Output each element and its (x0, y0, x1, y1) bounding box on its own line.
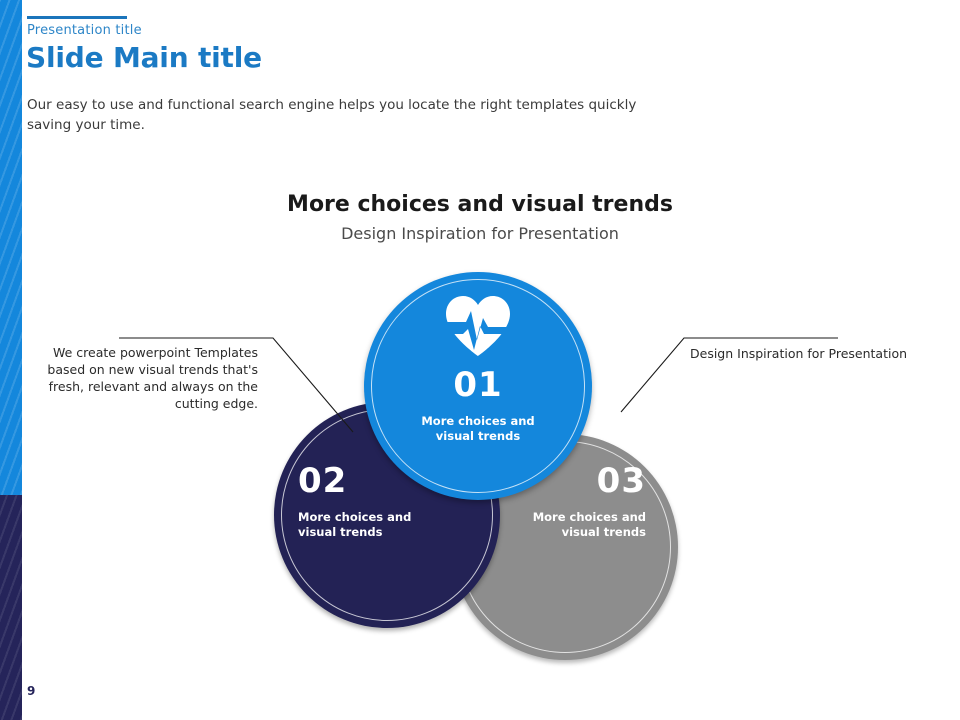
circle-body-02: More choices andvisual trends (274, 510, 500, 540)
page-number: 9 (27, 684, 35, 698)
venn-circle-01[interactable]: 01 More choices andvisual trends (364, 272, 592, 500)
callout-text-right: Design Inspiration for Presentation (690, 345, 920, 362)
slide-canvas: Presentation title Slide Main title Our … (0, 0, 960, 720)
callout-text-left: We create powerpoint Templates based on … (18, 344, 258, 412)
heart-pulse-icon (442, 294, 514, 358)
circle-number-01: 01 (364, 368, 592, 402)
circle-body-01: More choices andvisual trends (364, 414, 592, 444)
